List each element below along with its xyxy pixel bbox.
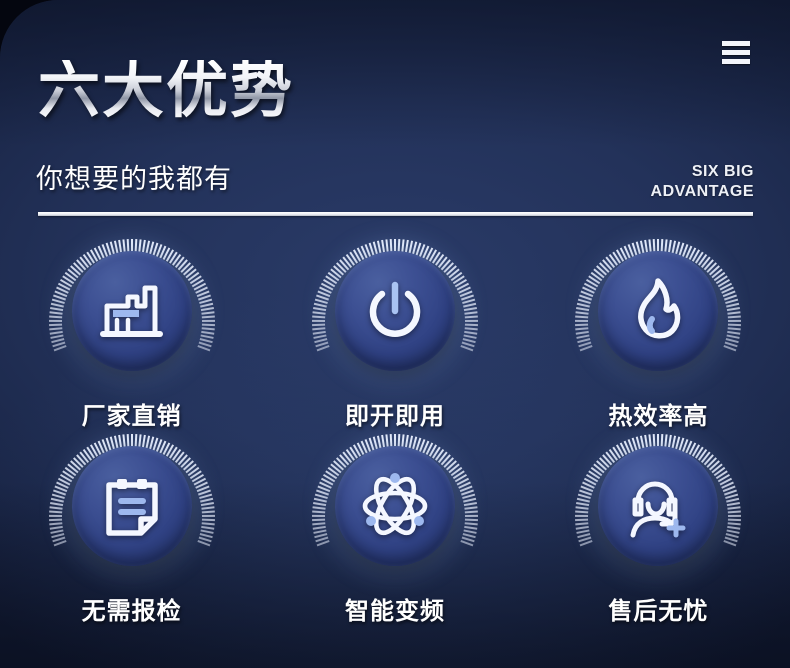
feature-disc bbox=[335, 446, 455, 566]
header-divider bbox=[38, 212, 753, 216]
feature-label: 即开即用 bbox=[345, 396, 445, 431]
english-caption-line1: SIX BIG bbox=[651, 162, 754, 182]
factory-icon bbox=[97, 276, 167, 346]
feature-disc bbox=[335, 251, 455, 371]
flame-icon bbox=[624, 275, 692, 347]
feature-disc bbox=[72, 446, 192, 566]
feature-label: 无需报检 bbox=[82, 591, 182, 626]
feature-disc bbox=[598, 251, 718, 371]
feature-item[interactable]: 热效率高 bbox=[527, 238, 790, 433]
english-caption: SIX BIG ADVANTAGE bbox=[651, 162, 754, 203]
feature-item[interactable]: 无需报检 bbox=[0, 433, 263, 628]
feature-label: 厂家直销 bbox=[82, 396, 182, 431]
feature-item[interactable]: 售后无忧 bbox=[527, 433, 790, 628]
atom-icon bbox=[358, 469, 432, 543]
power-icon bbox=[359, 275, 431, 347]
feature-dial bbox=[310, 433, 480, 583]
feature-label: 售后无忧 bbox=[608, 591, 708, 626]
feature-label: 智能变频 bbox=[345, 591, 445, 626]
hamburger-bar-2 bbox=[722, 50, 750, 55]
feature-item[interactable]: 智能变频 bbox=[263, 433, 526, 628]
feature-grid: 厂家直销 即开即用 bbox=[0, 238, 790, 628]
promo-panel: 六大优势 你想要的我都有 SIX BIG ADVANTAGE bbox=[0, 0, 790, 668]
feature-dial bbox=[47, 238, 217, 388]
hamburger-bar-1 bbox=[722, 41, 750, 46]
feature-dial bbox=[310, 238, 480, 388]
feature-item[interactable]: 厂家直销 bbox=[0, 238, 263, 433]
feature-disc bbox=[598, 446, 718, 566]
headset-support-icon bbox=[622, 471, 694, 541]
page-title: 六大优势 bbox=[38, 60, 294, 122]
feature-dial bbox=[573, 433, 743, 583]
english-caption-line2: ADVANTAGE bbox=[651, 182, 754, 202]
page-subtitle: 你想要的我都有 bbox=[36, 157, 232, 196]
clipboard-icon bbox=[97, 471, 167, 541]
hamburger-menu-icon[interactable] bbox=[722, 41, 750, 64]
feature-label: 热效率高 bbox=[608, 396, 708, 431]
feature-disc bbox=[72, 251, 192, 371]
feature-item[interactable]: 即开即用 bbox=[263, 238, 526, 433]
hamburger-bar-3 bbox=[722, 59, 750, 64]
feature-dial bbox=[47, 433, 217, 583]
feature-dial bbox=[573, 238, 743, 388]
